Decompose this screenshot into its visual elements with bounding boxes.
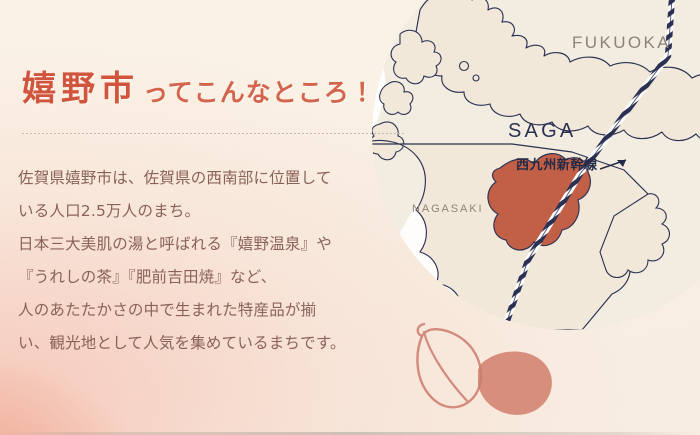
description-line: 日本三大美肌の湯と呼ばれる『嬉野温泉』や bbox=[18, 228, 418, 261]
page-title-sub: ってこんなところ！ bbox=[143, 80, 376, 106]
promo-banner: FUKUOKA SAGA NAGASAKI 西九州新幹線 嬉野市 ってこんなとこ… bbox=[0, 0, 700, 435]
dotted-divider bbox=[22, 133, 404, 134]
text-column: 嬉野市 ってこんなところ！ 佐賀県嬉野市は、佐賀県の西南部に位置して いる人口2… bbox=[0, 0, 430, 435]
page-title: 嬉野市 ってこんなところ！ bbox=[22, 72, 376, 106]
description-line: 『うれしの茶』『肥前吉田焼』など、 bbox=[18, 261, 418, 294]
shinkansen-pointer-icon bbox=[600, 158, 632, 176]
description-line: いる人口2.5万人のまち。 bbox=[18, 195, 418, 228]
description-line: 佐賀県嬉野市は、佐賀県の西南部に位置して bbox=[18, 162, 418, 195]
description-line: い、観光地として人気を集めているまちです。 bbox=[18, 327, 418, 360]
description-text: 佐賀県嬉野市は、佐賀県の西南部に位置して いる人口2.5万人のまち。 日本三大美… bbox=[18, 162, 418, 360]
leaf-solid-icon bbox=[478, 343, 560, 419]
description-line: 人のあたたかさの中で生まれた特産品が揃 bbox=[18, 294, 418, 327]
page-title-main: 嬉野市 bbox=[22, 72, 139, 106]
